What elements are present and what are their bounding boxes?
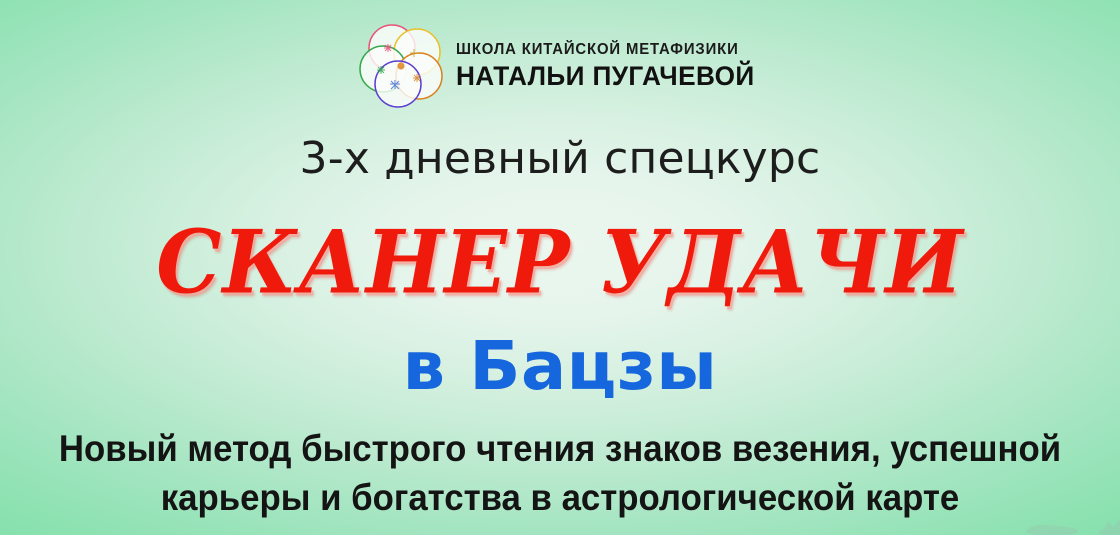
headline-primary: СКАНЕР УДАЧИ xyxy=(0,212,1120,314)
logo-wordmark: ШКОЛА КИТАЙСКОЙ МЕТАФИЗИКИ НАТАЛЬИ ПУГАЧ… xyxy=(456,42,764,91)
logo-line-name: НАТАЛЬИ ПУГАЧЕВОЙ xyxy=(456,63,755,90)
subtitle-line-1: Новый метод быстрого чтения знаков везен… xyxy=(34,424,1087,473)
five-circle-flower-logo-icon xyxy=(357,22,447,110)
course-subtitle: Новый метод быстрого чтения знаков везен… xyxy=(34,424,1087,522)
logo-line-school: ШКОЛА КИТАЙСКОЙ МЕТАФИЗИКИ xyxy=(456,42,751,58)
brand-logo: ШКОЛА КИТАЙСКОЙ МЕТАФИЗИКИ НАТАЛЬИ ПУГАЧ… xyxy=(0,22,1120,110)
course-kicker: 3-х дневный спецкурс xyxy=(0,133,1120,184)
promo-slide: ШКОЛА КИТАЙСКОЙ МЕТАФИЗИКИ НАТАЛЬИ ПУГАЧ… xyxy=(0,0,1120,535)
subtitle-line-2: карьеры и богатства в астрологической ка… xyxy=(34,473,1087,522)
headline-secondary: в Бацзы xyxy=(0,327,1120,405)
